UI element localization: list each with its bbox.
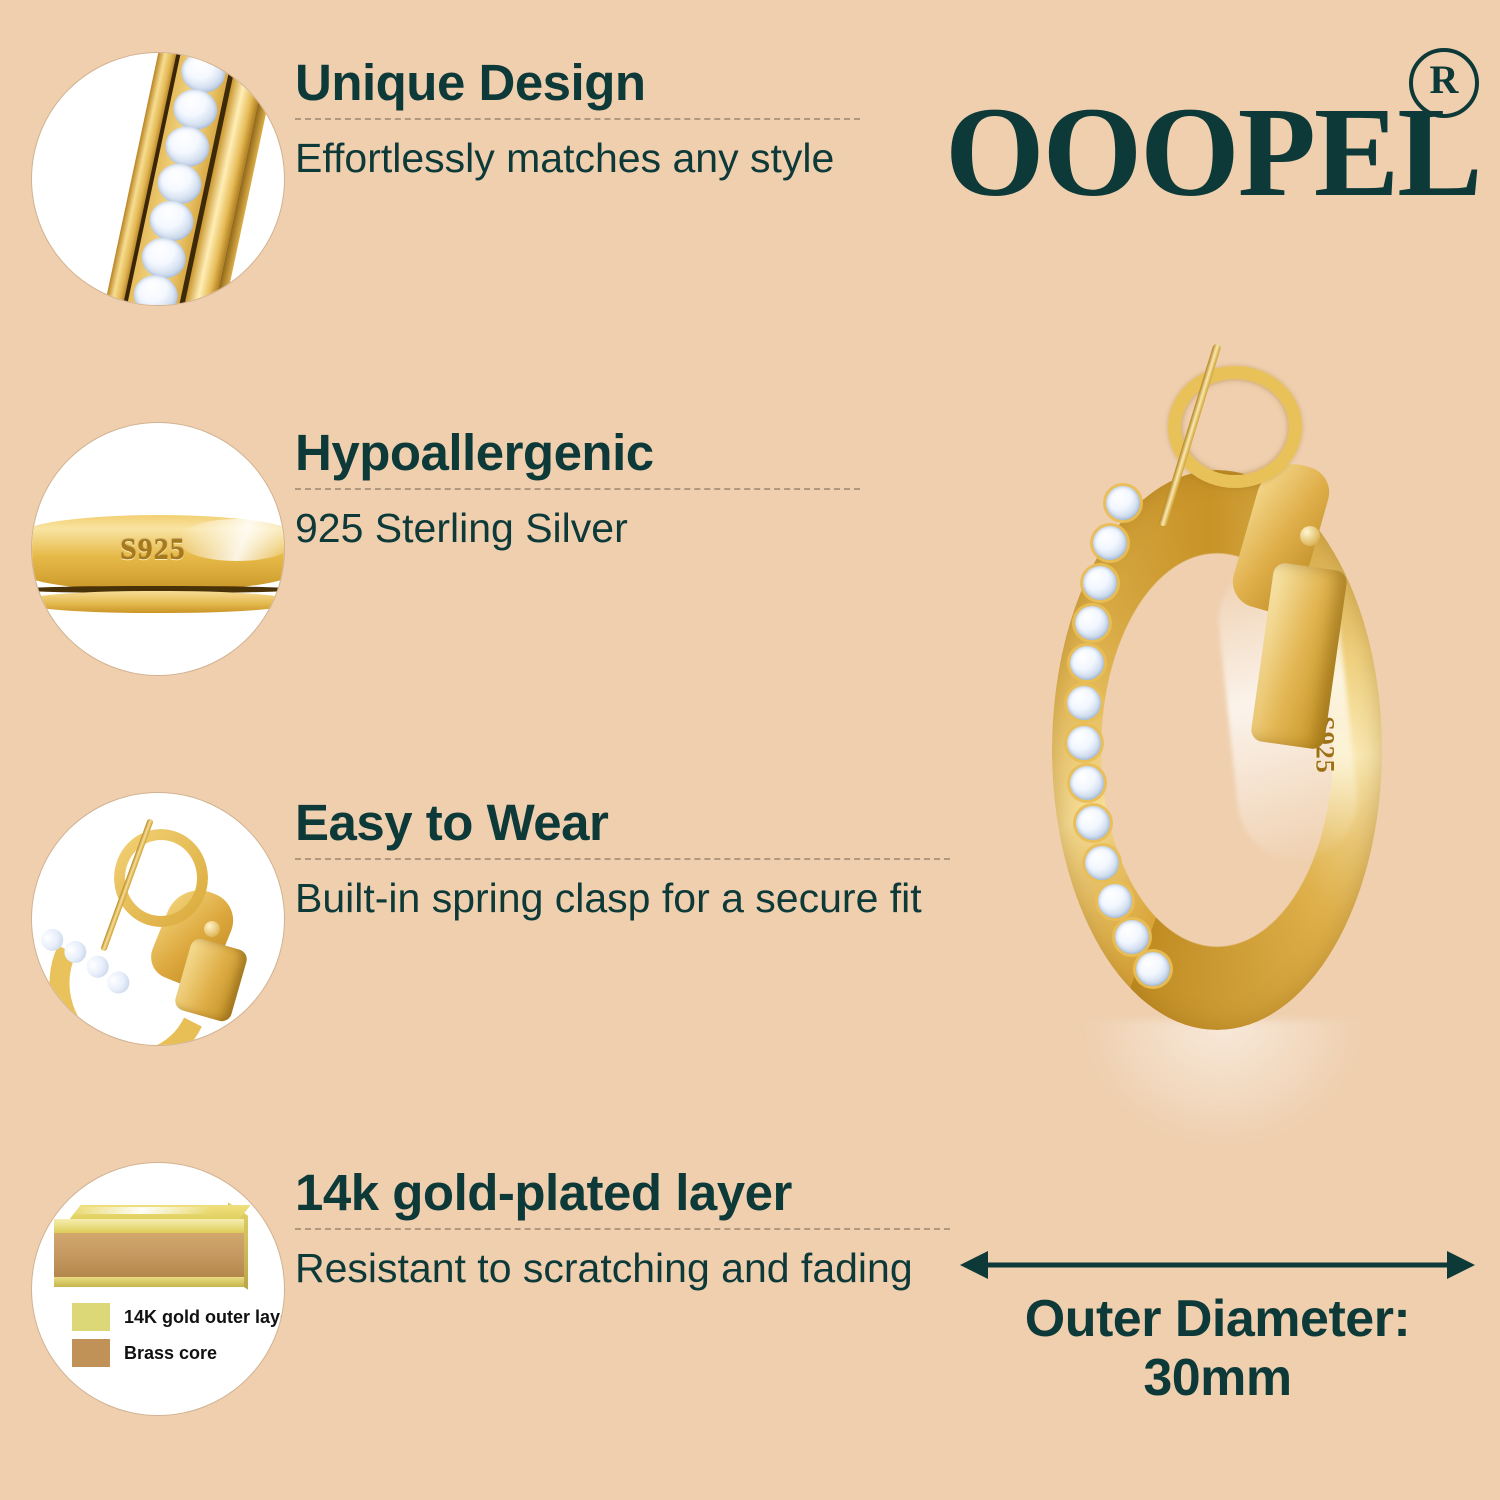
feature-subtext: Resistant to scratching and fading: [295, 1246, 955, 1292]
clasp-pin: [1300, 526, 1320, 546]
feature-subtext: Built-in spring clasp for a secure fit: [295, 876, 955, 922]
double-arrow-icon: [960, 1248, 1475, 1282]
legend-swatch-gold: [72, 1303, 110, 1331]
thumbnail-pave-band-closeup: [32, 53, 284, 305]
plating-legend: 14K gold outer layer Brass core: [72, 1303, 284, 1375]
legend-label: 14K gold outer layer: [124, 1307, 284, 1328]
surface-reflection: [1078, 1020, 1368, 1150]
gold-layer-face: [54, 1219, 244, 1233]
registered-trademark-icon: R: [1409, 48, 1479, 118]
feature-row-hypoallergenic: S925 Hypoallergenic 925 Sterling Silver: [0, 405, 980, 695]
clasp-graphic: [32, 793, 284, 1045]
dimension-label: Outer Diameter: 30mm: [960, 1290, 1475, 1409]
thumbnail-spring-clasp-closeup: [32, 793, 284, 1045]
feature-row-unique-design: Unique Design Effortlessly matches any s…: [0, 35, 980, 325]
gloss-highlight: [69, 1207, 214, 1214]
thumbnail-plating-cross-section: 14K gold outer layer Brass core: [32, 1163, 284, 1415]
brand-logo: OOOPEL R: [945, 46, 1485, 196]
divider: [295, 1228, 950, 1230]
pave-stone-track: [1062, 482, 1212, 1022]
feature-text-block: 14k gold-plated layer Resistant to scrat…: [295, 1165, 955, 1292]
band-highlight: [182, 519, 284, 561]
s925-stamp-text: S925: [120, 533, 186, 567]
product-hoop-earring-image: S925: [1000, 330, 1480, 1130]
feature-subtext: 925 Sterling Silver: [295, 506, 955, 552]
feature-heading: 14k gold-plated layer: [295, 1165, 955, 1220]
brand-wordmark: OOOPEL: [945, 88, 1481, 216]
feature-heading: Easy to Wear: [295, 795, 955, 850]
legend-item: 14K gold outer layer: [72, 1303, 284, 1331]
legend-item: Brass core: [72, 1339, 284, 1367]
thumbnail-s925-stamp-closeup: S925: [32, 423, 284, 675]
pave-band-graphic: [86, 53, 284, 305]
legend-swatch-brass: [72, 1339, 110, 1367]
dimension-label-line1: Outer Diameter:: [960, 1290, 1475, 1349]
feature-heading: Unique Design: [295, 55, 955, 110]
legend-label: Brass core: [124, 1343, 217, 1364]
divider: [295, 488, 860, 490]
feature-row-easy-to-wear: Easy to Wear Built-in spring clasp for a…: [0, 775, 980, 1065]
feature-text-block: Unique Design Effortlessly matches any s…: [295, 55, 955, 182]
divider: [295, 858, 950, 860]
feature-subtext: Effortlessly matches any style: [295, 136, 955, 182]
band-lip: [32, 591, 284, 613]
feature-text-block: Easy to Wear Built-in spring clasp for a…: [295, 795, 955, 922]
brass-core-face: [54, 1233, 244, 1281]
product-infographic: OOOPEL R Unique Design Effortless: [0, 0, 1500, 1500]
feature-heading: Hypoallergenic: [295, 425, 955, 480]
feature-text-block: Hypoallergenic 925 Sterling Silver: [295, 425, 955, 552]
divider: [295, 118, 860, 120]
gold-layer-base: [54, 1277, 244, 1287]
feature-row-gold-plated-layer: 14K gold outer layer Brass core 14k gold…: [0, 1145, 980, 1435]
dimension-label-line2: 30mm: [960, 1349, 1475, 1408]
